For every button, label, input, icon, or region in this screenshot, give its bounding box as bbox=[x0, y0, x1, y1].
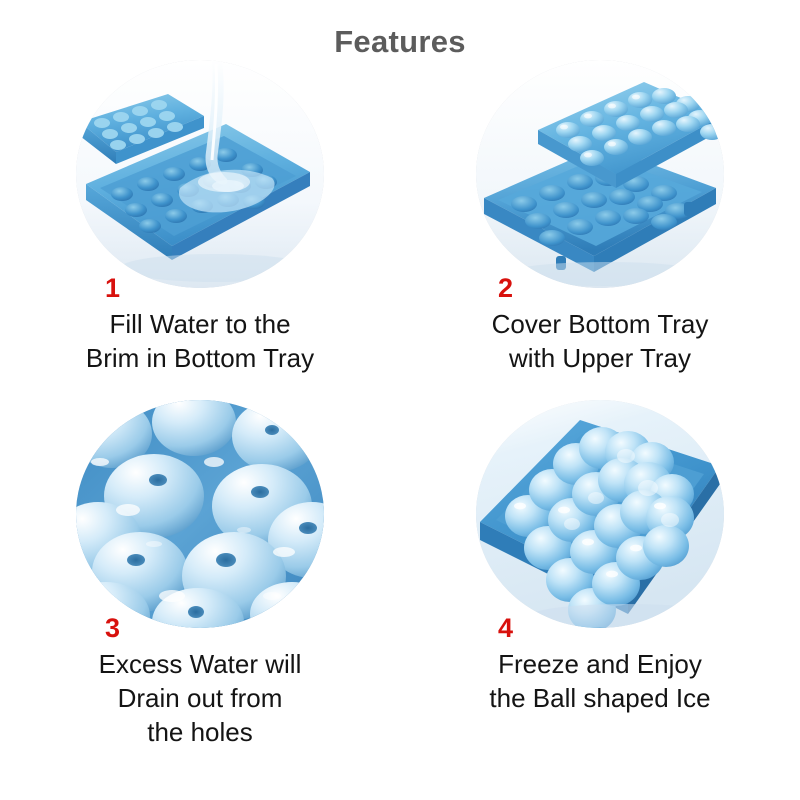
feature-card-4: 4 Freeze and Enjoy the Ball shaped Ice bbox=[400, 400, 800, 740]
photo-frozen-ice-balls bbox=[476, 400, 724, 628]
feature-3-photo-wrap bbox=[76, 400, 324, 628]
step-number-4: 4 bbox=[498, 615, 513, 642]
features-infographic: Features bbox=[0, 0, 800, 800]
step-number-3: 3 bbox=[105, 615, 120, 642]
step-caption-3: Excess Water will Drain out from the hol… bbox=[0, 648, 400, 749]
feature-card-1: 1 Fill Water to the Brim in Bottom Tray bbox=[0, 60, 400, 400]
step-number-2: 2 bbox=[498, 275, 513, 302]
features-grid: 1 Fill Water to the Brim in Bottom Tray bbox=[0, 60, 800, 800]
feature-2-photo-wrap bbox=[476, 60, 724, 288]
step-caption-2: Cover Bottom Tray with Upper Tray bbox=[400, 308, 800, 376]
feature-card-3: 3 Excess Water will Drain out from the h… bbox=[0, 400, 400, 740]
feature-4-photo-wrap bbox=[476, 400, 724, 628]
feature-1-photo-wrap bbox=[76, 60, 324, 288]
step-caption-4: Freeze and Enjoy the Ball shaped Ice bbox=[400, 648, 800, 716]
step-caption-1: Fill Water to the Brim in Bottom Tray bbox=[0, 308, 400, 376]
feature-card-2: 2 Cover Bottom Tray with Upper Tray bbox=[400, 60, 800, 400]
page-title: Features bbox=[0, 24, 800, 60]
photo-excess-water-drain-holes bbox=[76, 400, 324, 628]
photo-fill-water-bottom-tray bbox=[76, 60, 324, 288]
photo-cover-bottom-tray bbox=[476, 60, 724, 288]
step-number-1: 1 bbox=[105, 275, 120, 302]
